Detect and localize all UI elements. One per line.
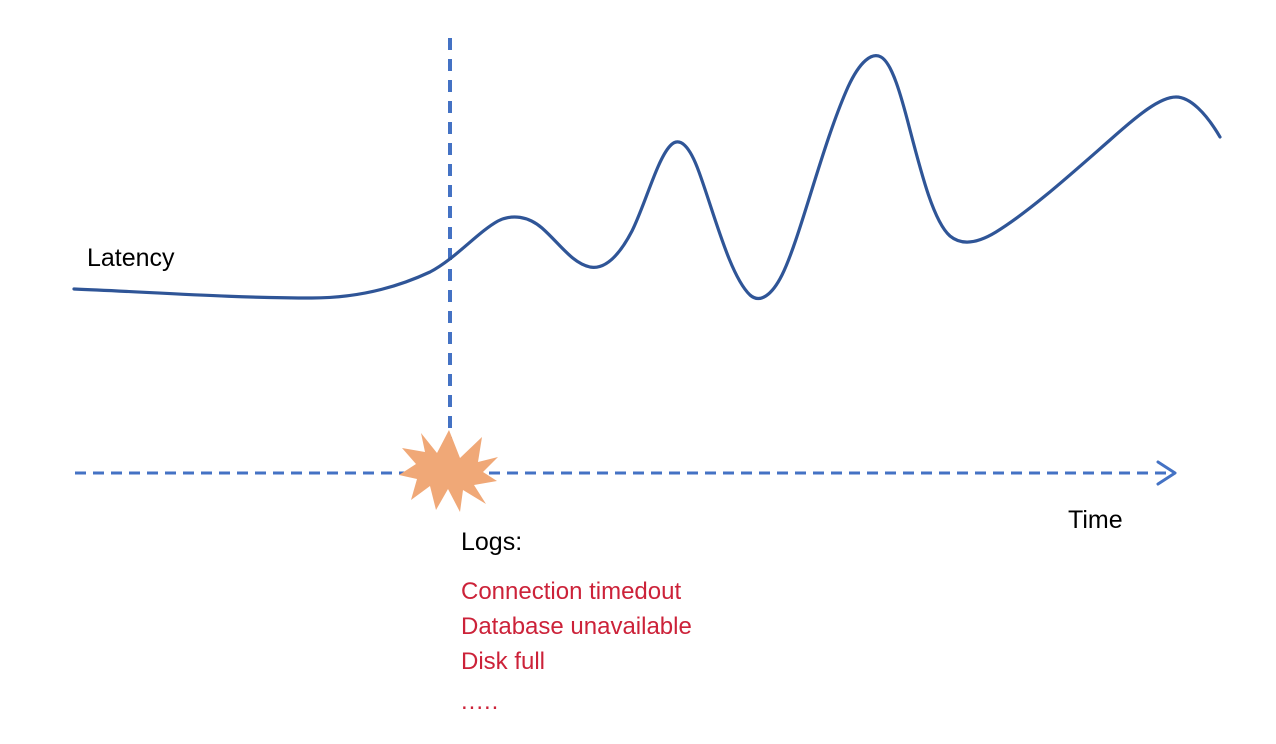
starburst-icon xyxy=(399,430,498,512)
logs-heading: Logs: xyxy=(461,530,522,555)
latency-curve xyxy=(74,56,1220,299)
x-axis-label: Time xyxy=(1068,508,1123,533)
log-entry-database-unavailable: Database unavailable xyxy=(461,615,692,639)
log-entry-ellipsis: ..... xyxy=(461,690,499,714)
log-entry-disk-full: Disk full xyxy=(461,650,545,674)
log-entry-connection-timedout: Connection timedout xyxy=(461,580,681,604)
y-axis-label: Latency xyxy=(87,246,175,271)
